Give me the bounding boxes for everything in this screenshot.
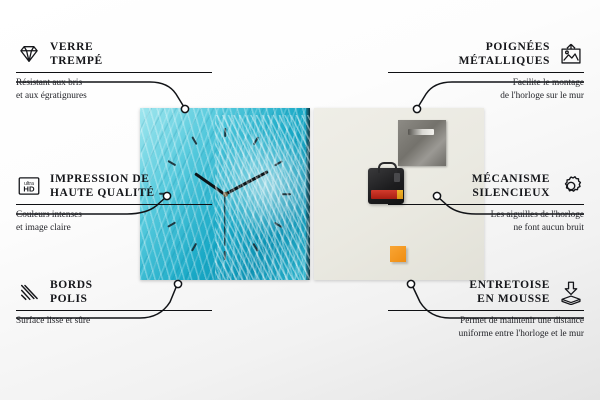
wall-mount-icon (558, 41, 584, 67)
feature-bords-polis: BORDS POLIS Surface lisse et sûre (16, 278, 212, 328)
diamond-icon (16, 41, 42, 67)
divider (388, 72, 584, 73)
feature-description: Permet de maintenir une distance uniform… (388, 315, 584, 340)
feature-title: VERRE TREMPÉ (50, 40, 103, 68)
feature-title: ENTRETOISE EN MOUSSE (469, 278, 550, 306)
clock-tick (224, 251, 226, 260)
feature-mecanisme-silencieux: MÉCANISME SILENCIEUX Les aiguilles de l'… (388, 172, 584, 234)
polished-edges-icon (16, 279, 42, 305)
feature-entretoise-en-mousse: ENTRETOISE EN MOUSSE Permet de maintenir… (388, 278, 584, 340)
clock-tick (253, 243, 259, 252)
clock-tick (282, 193, 291, 195)
feature-header: POIGNÉES MÉTALLIQUES (388, 40, 584, 68)
feature-header: ultra HD IMPRESSION DE HAUTE QUALITÉ (16, 172, 212, 200)
feature-poignees-metalliques: POIGNÉES MÉTALLIQUES Facilite le montage… (388, 40, 584, 102)
gear-icon (558, 173, 584, 199)
divider (16, 310, 212, 311)
divider (16, 72, 212, 73)
clock-second-hand (224, 194, 225, 246)
feature-description: Surface lisse et sûre (16, 315, 212, 327)
feature-verre-trempe: VERRE TREMPÉ Résistant aux bris et aux é… (16, 40, 212, 102)
clock-tick (253, 136, 259, 145)
divider (16, 204, 212, 205)
feature-header: ENTRETOISE EN MOUSSE (388, 278, 584, 306)
divider (388, 310, 584, 311)
feature-description: Couleurs intenses et image claire (16, 209, 212, 234)
clock-tick (274, 222, 283, 228)
feature-description: Les aiguilles de l'horloge ne font aucun… (388, 209, 584, 234)
clock-minute-hand (224, 170, 268, 195)
feature-header: VERRE TREMPÉ (16, 40, 212, 68)
feature-title: BORDS POLIS (50, 278, 93, 306)
feature-header: MÉCANISME SILENCIEUX (388, 172, 584, 200)
panel-edge (306, 108, 310, 280)
feature-header: BORDS POLIS (16, 278, 212, 306)
foam-spacer (390, 246, 406, 262)
divider (388, 204, 584, 205)
feature-impression-haute-qualite: ultra HD IMPRESSION DE HAUTE QUALITÉ Cou… (16, 172, 212, 234)
feature-description: Résistant aux bris et aux égratignures (16, 77, 212, 102)
metal-hanger-plate (398, 120, 446, 166)
feature-title: IMPRESSION DE HAUTE QUALITÉ (50, 172, 155, 200)
clock-tick (224, 128, 226, 137)
clock-tick (167, 160, 176, 166)
clock-tick (274, 160, 283, 166)
feature-title: MÉCANISME SILENCIEUX (472, 172, 550, 200)
clock-center-cap (223, 192, 228, 197)
hanger-slot (408, 129, 434, 135)
feature-description: Facilite le montage de l'horloge sur le … (388, 77, 584, 102)
infographic-stage: VERRE TREMPÉ Résistant aux bris et aux é… (0, 0, 600, 400)
foam-spacer-icon (558, 279, 584, 305)
svg-text:HD: HD (23, 185, 35, 194)
clock-tick (191, 243, 197, 252)
ultra-hd-icon: ultra HD (16, 173, 42, 199)
clock-tick (191, 136, 197, 145)
feature-title: POIGNÉES MÉTALLIQUES (459, 40, 550, 68)
